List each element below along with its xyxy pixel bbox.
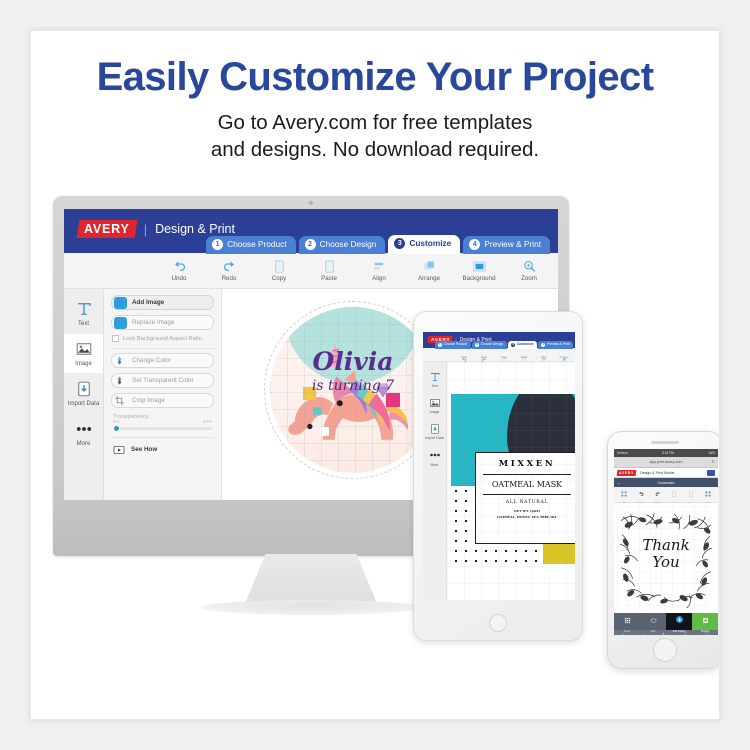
step-label: Choose Design [320,240,377,248]
mobile-app-header: AVERY Design & Print Mobile [614,468,718,478]
image-options-panel: Add Image Replace Image Lock Background … [104,289,222,500]
toolbar-label: Arrange [559,356,568,359]
lock-aspect-checkbox-row[interactable]: Lock Background Aspect Ratio [112,335,214,342]
bottom-button-add-object[interactable]: Add Object [666,613,692,630]
hamburger-menu-icon[interactable] [707,470,715,476]
transparent-color-icon [114,375,127,387]
import-data-icon [74,379,94,399]
toolbar-button-align[interactable]: Align [538,350,550,360]
step-number: 2 [305,239,316,250]
logo-separator: | [144,222,147,237]
change-color-button[interactable]: Change Color [111,353,214,368]
step-label: Customize [409,239,451,247]
slider-min-label: 0% [113,419,120,424]
phone-speaker [651,441,679,444]
tablet-tool-rail: Text Image Import Data More [423,362,447,600]
tabs-icon[interactable]: ☐ [705,632,709,636]
battery-label: 34% [709,451,715,455]
avery-logo-mark: AVERY [77,220,138,238]
color-swatch-icon [114,355,127,367]
rail-item-image[interactable]: Image [423,392,446,418]
carrier-label: Verizon [617,451,628,455]
slider-max-label: 99% [203,419,212,424]
desktop-step-tabs: 1 Choose Product 2 Choose Design 3 Custo… [206,235,550,254]
rail-item-text[interactable]: Text [64,294,103,333]
align-icon [541,350,547,356]
avery-logo-mark[interactable]: AVERY [617,470,637,476]
tablet-device: AVERY | Design & Print 1 Choose Product … [413,311,583,641]
tablet-screen: AVERY | Design & Print 1 Choose Product … [423,332,575,600]
thank-you-line-1: Thank [617,537,715,554]
text-icon [74,299,94,319]
undo-icon [461,350,467,356]
mobile-screen-title-bar: ← Customize [614,478,718,487]
rail-item-import-data[interactable]: Import Data [64,374,103,413]
tablet-design-canvas[interactable]: MIXXEN OATMEAL MASK ALL NATURAL NET WT. … [447,362,575,600]
thank-you-card-design[interactable]: Thank You [617,506,715,610]
bottom-button-edit[interactable]: Edit [640,613,666,630]
thank-you-text[interactable]: Thank You [617,537,715,571]
toolbar-button-paste[interactable]: Paste [314,259,344,282]
subtitle-line-1: Go to Avery.com for free templates [31,109,719,136]
arrange-icon [561,350,567,356]
phone-device: Verizon 3:41 PM 34% app.print.avery.com … [607,431,720,669]
button-label: Change Color [132,357,171,364]
toolbar-button-paste[interactable]: Paste [518,350,530,360]
step-label: Preview & Print [484,240,541,248]
step-tab-preview-print[interactable]: 4 Preview & Print [463,236,550,254]
step-number: 3 [511,343,516,348]
slider-handle[interactable] [113,425,120,432]
toolbar-button-zoom[interactable]: Zoom [514,259,544,282]
mobile-design-canvas[interactable]: Thank You [614,503,718,613]
toolbar-label: Align [541,356,547,359]
canvas-grid-overlay [447,362,575,600]
step-number: 1 [438,343,443,348]
toolbar-label: Copy [272,275,286,282]
subtitle-line-2: and designs. No download required. [31,136,719,163]
toolbar-button-arrange[interactable]: Arrange [558,350,570,360]
import-data-icon [428,422,441,435]
step-number: 1 [212,239,223,250]
redo-icon [222,259,237,274]
desktop-tool-rail: Text Image Import Data [64,289,104,500]
button-label: Edit [651,630,655,633]
toolbar-label: Undo [172,275,187,282]
divider [111,348,214,349]
back-nav-icon[interactable]: ‹ [623,632,625,635]
rail-item-text[interactable]: Text [423,366,446,392]
step-tab-choose-design[interactable]: 2 Choose Design [299,236,386,254]
toolbar-button-redo[interactable]: Redo [214,259,244,282]
toolbar-label: Background [462,275,495,282]
rail-label: More [431,463,439,467]
toolbar-button-undo[interactable]: Undo [164,259,194,282]
toolbar-button-undo[interactable]: Undo [458,350,470,360]
page-title: Easily Customize Your Project [31,55,719,100]
align-icon [372,259,387,274]
step-number: 4 [541,343,546,348]
share-icon[interactable]: ↥ [662,632,666,636]
step-label: Choose Product [444,343,468,346]
rail-label: More [77,441,91,448]
step-tab-choose-design[interactable]: 2 Choose Design [472,341,507,349]
step-number: 3 [394,238,405,249]
more-icon [74,419,94,439]
clock-label: 3:41 PM [662,451,674,455]
add-object-icon [675,611,684,629]
transparency-label: Transparency: [113,414,214,420]
monitor-stand-base [201,600,421,615]
design-subtitle-text[interactable]: is turning 7 [270,378,436,394]
bottom-button-sheet[interactable]: Sheet [614,613,640,630]
toolbar-button-redo[interactable]: Redo [478,350,490,360]
tablet-app-header: AVERY | Design & Print 1 Choose Product … [423,332,575,348]
background-icon [472,259,487,274]
reload-icon[interactable]: ↻ [711,459,715,465]
back-icon[interactable]: ← [617,480,621,485]
app-name-label: Design & Print Mobile [640,471,675,475]
step-tab-customize[interactable]: 3 Customize [388,235,460,254]
monitor-camera-icon [309,201,313,205]
rail-label: Text [78,321,89,328]
arrange-icon [422,259,437,274]
play-icon [113,444,126,456]
rail-label: Import Data [425,436,443,440]
toolbar-label: Align [372,275,386,282]
button-label: Sheet [624,630,631,633]
transparency-slider[interactable]: 0% 99% [113,423,212,433]
toolbar-label: Paste [521,356,528,359]
toolbar-label: Undo [461,356,467,359]
checkbox-label: Lock Background Aspect Ratio [123,336,202,342]
rail-label: Import Data [68,401,99,408]
button-label: Set Transparent Color [132,377,194,384]
browser-url-bar[interactable]: app.print.avery.com ↻ [614,457,718,468]
copy-icon [501,350,507,356]
replace-image-icon [114,317,127,329]
rail-label: Image [75,361,92,368]
button-label: Add Image [132,299,164,306]
desktop-toolbar: Undo Redo Copy [64,253,558,289]
step-tab-choose-product[interactable]: 1 Choose Product [206,236,296,254]
mobile-bottom-bar: Sheet Edit Add Object Project [614,613,718,630]
crop-icon [114,395,127,407]
design-surface: Olivia is turning 7 [270,307,436,473]
step-tab-choose-product[interactable]: 1 Choose Product [435,341,471,349]
button-label: See How [131,446,157,453]
mobile-toolbar: Fit Undo Redo Copy Paste [614,487,718,503]
step-label: Customize [517,343,534,346]
paste-icon [322,259,337,274]
rail-label: Text [431,384,437,388]
bookmarks-icon[interactable]: ☷ [683,632,687,636]
more-icon [428,449,441,462]
undo-icon [172,259,187,274]
toolbar-label: Redo [481,356,487,359]
add-image-button[interactable]: Add Image [111,295,214,310]
button-label: Replace Image [132,319,174,326]
divider [111,437,214,438]
app-name-label: Design & Print [155,222,235,236]
toolbar-label: Arrange [418,275,440,282]
paste-icon [521,350,527,356]
promo-card: Easily Customize Your Project Go to Aver… [30,30,720,720]
step-tab-preview-print[interactable]: 4 Preview & Print [538,341,573,349]
image-icon [74,339,94,359]
url-text: app.print.avery.com [649,460,682,464]
rail-label: Image [430,410,440,414]
phone-status-bar: Verizon 3:41 PM 34% [614,449,718,457]
forward-nav-icon[interactable]: › [642,632,644,635]
image-icon [428,396,441,409]
toolbar-button-copy[interactable]: Copy [498,350,510,360]
redo-icon [481,350,487,356]
toolbar-button-background[interactable]: Background [464,259,494,282]
rail-item-more[interactable]: More [64,414,103,453]
add-image-icon [114,297,127,309]
thank-you-line-2: You [617,554,715,571]
zoom-icon [522,259,537,274]
rail-item-image[interactable]: Image [64,334,103,373]
toolbar-button-align[interactable]: Align [364,259,394,282]
step-tab-customize[interactable]: 3 Customize [508,341,537,349]
step-label: Choose Design [481,343,504,346]
replace-image-button[interactable]: Replace Image [111,315,214,330]
bottom-button-project[interactable]: Project [692,613,718,630]
screen-title-label: Customize [658,481,675,485]
checkbox-icon[interactable] [112,335,119,342]
step-number: 4 [469,239,480,250]
toolbar-label: Redo [222,275,237,282]
tablet-workspace: Text Image Import Data More [423,362,575,600]
project-icon [702,611,709,629]
slider-track [113,427,212,430]
phone-screen: Verizon 3:41 PM 34% app.print.avery.com … [614,449,718,635]
toolbar-label: Zoom [521,275,537,282]
design-name-text[interactable]: Olivia [270,347,436,376]
step-label: Choose Product [227,240,287,248]
sheet-icon [624,611,631,629]
toolbar-button-copy[interactable]: Copy [264,259,294,282]
tablet-toolbar: Undo Redo Copy Paste Align [423,348,575,362]
page-subtitle: Go to Avery.com for free templates and d… [31,109,719,163]
button-label: Crop Image [132,397,165,404]
rail-item-more[interactable]: More [423,445,446,471]
monitor-stand-neck [244,554,378,606]
toolbar-label: Copy [501,356,507,359]
crop-image-button[interactable]: Crop Image [111,393,214,408]
phone-home-button[interactable] [653,638,677,662]
desktop-app-header: AVERY | Design & Print 1 Choose Product … [64,209,558,253]
rail-item-import-data[interactable]: Import Data [423,418,446,444]
copy-icon [272,259,287,274]
see-how-button[interactable]: See How [111,442,214,457]
text-icon [428,370,441,383]
tablet-step-tabs: 1 Choose Product 2 Choose Design 3 Custo… [435,341,573,349]
tablet-home-button[interactable] [489,614,507,632]
toolbar-label: Paste [321,275,337,282]
step-label: Preview & Print [547,343,570,346]
toolbar-button-arrange[interactable]: Arrange [414,259,444,282]
step-number: 2 [475,343,480,348]
set-transparent-color-button[interactable]: Set Transparent Color [111,373,214,388]
edit-icon [650,611,657,629]
